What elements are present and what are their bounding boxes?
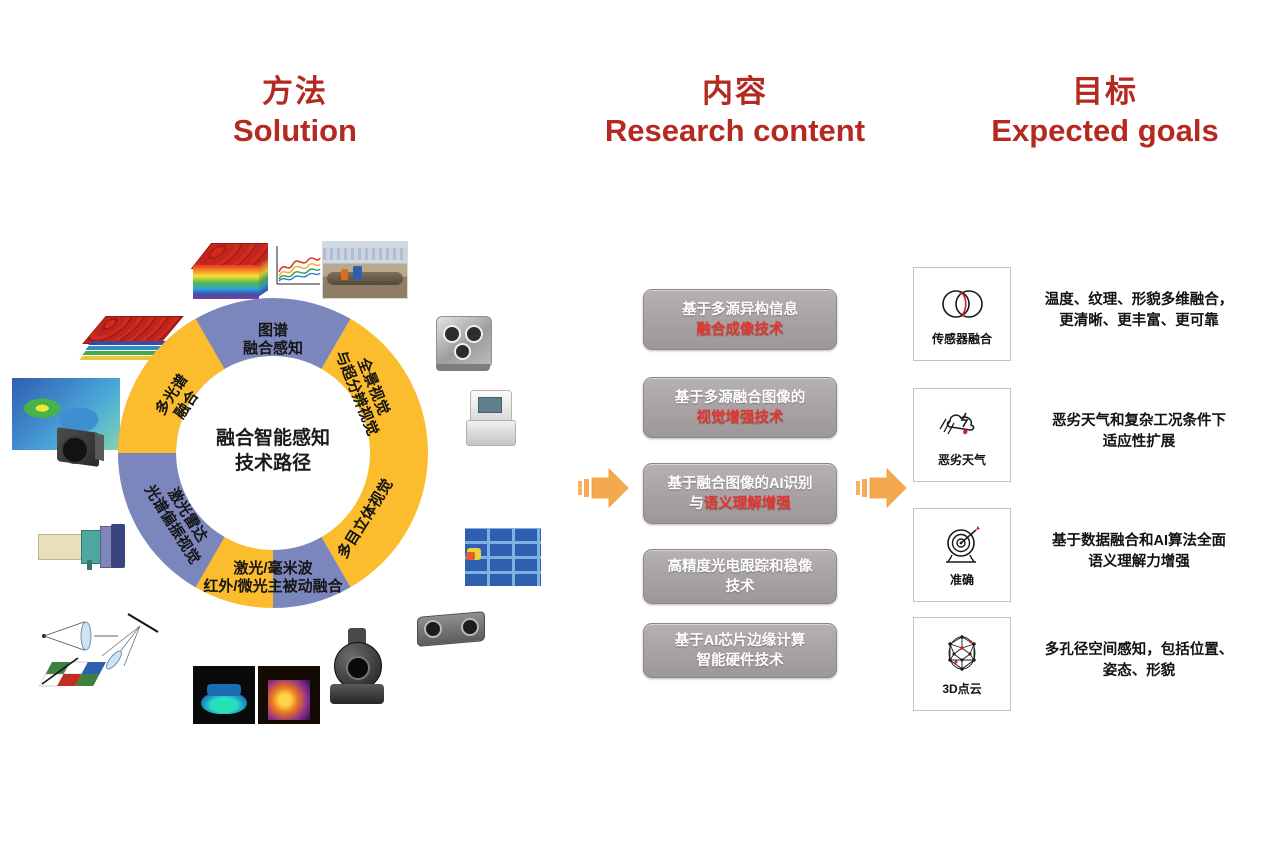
process-box-ai-chip-edge-computing[interactable]: 基于AI芯片边缘计算 智能硬件技术	[643, 623, 837, 678]
donut-center-line2: 技术路径	[178, 451, 368, 476]
goal-text-0-line1: 温度、纹理、形貌多维融合，	[1026, 290, 1252, 311]
goal-card-0-label: 传感器融合	[932, 330, 992, 347]
goal-card-severe-weather[interactable]: 恶劣天气	[913, 388, 1011, 482]
multi-lens-panoramic-camera	[432, 312, 494, 374]
goal-card-sensor-fusion[interactable]: 传感器融合	[913, 267, 1011, 361]
process-box-visual-enhancement[interactable]: 基于多源融合图像的 视觉增强技术	[643, 377, 837, 438]
column-header-expected-goals: 目标 Expected goals	[975, 74, 1235, 149]
process-box-0-line1: 基于多源异构信息	[682, 300, 798, 320]
process-box-2-line2-prefix: 与	[689, 496, 704, 512]
goal-card-accuracy[interactable]: 准确	[913, 508, 1011, 602]
goal-text-sensor-fusion: 温度、纹理、形貌多维融合， 更清晰、更丰富、更可靠	[1026, 290, 1252, 332]
goal-card-2-label: 准确	[950, 571, 974, 588]
goal-text-0-line2: 更清晰、更丰富、更可靠	[1026, 311, 1252, 332]
process-box-1-line1: 基于多源融合图像的	[675, 388, 806, 408]
target-dartboard-icon	[936, 523, 988, 567]
optical-polarization-module	[38, 524, 128, 572]
venn-circles-icon	[936, 282, 988, 326]
point-cloud-sphere-icon	[936, 632, 988, 676]
goal-text-1-line1: 恶劣天气和复杂工况条件下	[1026, 411, 1252, 432]
gimbal-eo-turret	[326, 628, 388, 710]
process-box-ai-recognition-semantics[interactable]: 基于融合图像的AI识别 与语义理解增强	[643, 463, 837, 524]
goal-card-1-label: 恶劣天气	[938, 451, 986, 468]
process-box-tracking-stabilization[interactable]: 高精度光电跟踪和稳像 技术	[643, 549, 837, 604]
column-header-content-en: Research content	[600, 113, 870, 150]
column-header-goals-en: Expected goals	[975, 113, 1235, 150]
donut-center-line1: 融合智能感知	[178, 426, 368, 451]
goal-text-3-line2: 姿态、形貌	[1026, 661, 1252, 682]
arrow-solution-to-content	[578, 466, 630, 510]
spectral-curve-plot	[268, 240, 324, 298]
column-header-solution-cn: 方法	[170, 74, 420, 111]
column-header-goals-cn: 目标	[975, 74, 1235, 111]
goal-text-severe-weather: 恶劣天气和复杂工况条件下 适应性扩展	[1026, 411, 1252, 453]
column-header-research-content: 内容 Research content	[600, 74, 870, 149]
arrow-content-to-goals	[856, 466, 908, 510]
severe-weather-icon	[936, 403, 988, 447]
process-box-fusion-imaging[interactable]: 基于多源异构信息 融合成像技术	[643, 289, 837, 350]
industrial-camera-photo	[55, 424, 107, 468]
goal-text-accuracy: 基于数据融合和AI算法全面 语义理解力增强	[1026, 531, 1252, 573]
optical-path-diagram	[32, 600, 182, 692]
technology-path-donut: 图谱 融合感知 全景视觉 与超分辨视觉 多目立体视觉 激光/毫米波 红外/微光主…	[118, 298, 428, 608]
scanner-device-photo	[466, 390, 514, 448]
goal-text-2-line1: 基于数据融合和AI算法全面	[1026, 531, 1252, 552]
process-box-2-highlight: 语义理解增强	[704, 496, 791, 512]
donut-center-title: 融合智能感知 技术路径	[178, 426, 368, 477]
column-header-content-cn: 内容	[600, 74, 870, 111]
goal-card-3d-point-cloud[interactable]: 3D点云	[913, 617, 1011, 711]
process-box-4-line2: 智能硬件技术	[675, 651, 806, 671]
column-header-solution: 方法 Solution	[170, 74, 420, 149]
process-box-4-line1: 基于AI芯片边缘计算	[675, 631, 806, 651]
process-box-3-line2: 技术	[668, 577, 813, 597]
donut-segment-spectral-fusion-sensing	[196, 298, 351, 369]
column-header-solution-en: Solution	[170, 113, 420, 150]
process-box-0-highlight: 融合成像技术	[682, 320, 798, 340]
diagram-canvas: 方法 Solution 内容 Research content 目标 Expec…	[0, 0, 1268, 866]
stereo-binocular-camera	[415, 608, 487, 650]
process-box-3-line1: 高精度光电跟踪和稳像	[668, 557, 813, 577]
goal-text-1-line2: 适应性扩展	[1026, 432, 1252, 453]
blue-brick-depth-image	[465, 528, 541, 586]
goal-card-3-label: 3D点云	[942, 680, 981, 697]
process-box-2-line1: 基于融合图像的AI识别	[668, 474, 813, 494]
goal-text-3d-point-cloud: 多孔径空间感知，包括位置、 姿态、形貌	[1026, 640, 1252, 682]
industrial-pipeline-photo	[322, 241, 408, 299]
goal-text-2-line2: 语义理解力增强	[1026, 552, 1252, 573]
process-box-1-highlight: 视觉增强技术	[675, 408, 806, 428]
night-vision-thermal-pair	[193, 666, 323, 724]
goal-text-3-line1: 多孔径空间感知，包括位置、	[1026, 640, 1252, 661]
